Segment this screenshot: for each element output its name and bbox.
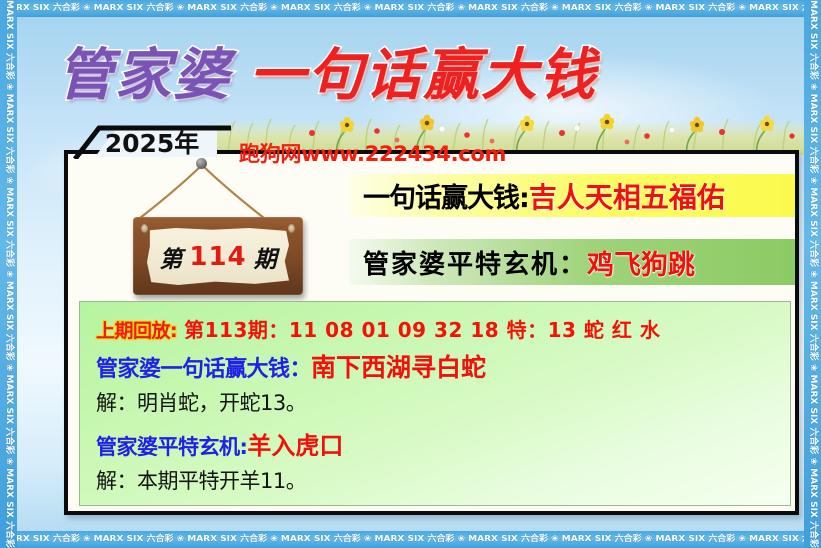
phrase-row: 管家婆一句话赢大钱： 南下西湖寻白蛇 bbox=[96, 348, 774, 385]
phrase-value: 南下西湖寻白蛇 bbox=[311, 348, 486, 384]
issue-number: 114 bbox=[189, 242, 246, 272]
phrase-label: 管家婆一句话赢大钱： bbox=[96, 351, 311, 383]
border-pattern-text-bottom: MARX SIX 六合彩 ❀ MARX SIX 六合彩 ❀ MARX SIX 六… bbox=[0, 532, 821, 548]
phrase-explain: 解：明肖蛇，开蛇13。 bbox=[96, 387, 774, 424]
banner-special-label: 管家婆平特玄机： bbox=[363, 244, 587, 281]
sky-background: 管家婆 一句话赢大钱 2025年 跑狗网www.222434.com 第 bbox=[17, 17, 804, 531]
content-box: 上期回放: 第113期：11 08 01 09 32 18 特：13 蛇 红 水… bbox=[79, 301, 791, 506]
recap-label: 上期回放: bbox=[96, 316, 177, 343]
special-value: 羊入虎口 bbox=[247, 426, 343, 461]
special-row: 管家婆平特玄机: 羊入虎口 bbox=[96, 426, 774, 463]
site-url-text: 跑狗网www.222434.com bbox=[239, 138, 506, 168]
page-title: 管家婆 一句话赢大钱 bbox=[57, 45, 597, 107]
title-slogan: 一句话赢大钱 bbox=[249, 45, 597, 107]
hanging-sign: 第 114 期 bbox=[88, 160, 338, 300]
recap-numbers: 第113期：11 08 01 09 32 18 特：13 蛇 红 水 bbox=[184, 314, 660, 343]
main-panel: 第 114 期 一句话赢大钱: 吉人天相五福佑 管家婆平特玄机： 鸡飞狗跳 bbox=[64, 150, 799, 515]
banner-phrase-value: 吉人天相五福佑 bbox=[529, 176, 725, 216]
sign-board: 第 114 期 bbox=[133, 217, 303, 295]
banner-special-value: 鸡飞狗跳 bbox=[587, 243, 695, 282]
year-tab-outline bbox=[73, 125, 233, 159]
border-strip-left: MARX SIX 六合彩 ❀ MARX SIX 六合彩 ❀ MARX SIX 六… bbox=[0, 0, 17, 548]
sign-prefix: 第 bbox=[159, 240, 182, 274]
title-brand: 管家婆 bbox=[57, 45, 231, 107]
sign-paper: 第 114 期 bbox=[147, 228, 289, 285]
banner-phrase-label: 一句话赢大钱: bbox=[363, 176, 529, 215]
recap-row: 上期回放: 第113期：11 08 01 09 32 18 特：13 蛇 红 水 bbox=[96, 314, 774, 346]
border-strip-right: MARX SIX 六合彩 ❀ MARX SIX 六合彩 ❀ MARX SIX 六… bbox=[804, 0, 821, 548]
banner-special: 管家婆平特玄机： 鸡飞狗跳 bbox=[349, 239, 799, 285]
border-pattern-text-right: MARX SIX 六合彩 ❀ MARX SIX 六合彩 ❀ MARX SIX 六… bbox=[804, 0, 821, 548]
banner-phrase: 一句话赢大钱: 吉人天相五福佑 bbox=[349, 174, 799, 217]
special-label: 管家婆平特玄机: bbox=[96, 431, 247, 461]
border-pattern-text-top: MARX SIX 六合彩 ❀ MARX SIX 六合彩 ❀ MARX SIX 六… bbox=[0, 1, 821, 17]
sign-suffix: 期 bbox=[254, 240, 277, 274]
border-strip-bottom: MARX SIX 六合彩 ❀ MARX SIX 六合彩 ❀ MARX SIX 六… bbox=[0, 531, 821, 548]
border-strip-top: MARX SIX 六合彩 ❀ MARX SIX 六合彩 ❀ MARX SIX 六… bbox=[0, 0, 821, 17]
page-root: MARX SIX 六合彩 ❀ MARX SIX 六合彩 ❀ MARX SIX 六… bbox=[0, 0, 821, 548]
border-pattern-text-left: MARX SIX 六合彩 ❀ MARX SIX 六合彩 ❀ MARX SIX 六… bbox=[0, 0, 17, 548]
special-explain: 解：本期平特开羊11。 bbox=[96, 465, 774, 502]
